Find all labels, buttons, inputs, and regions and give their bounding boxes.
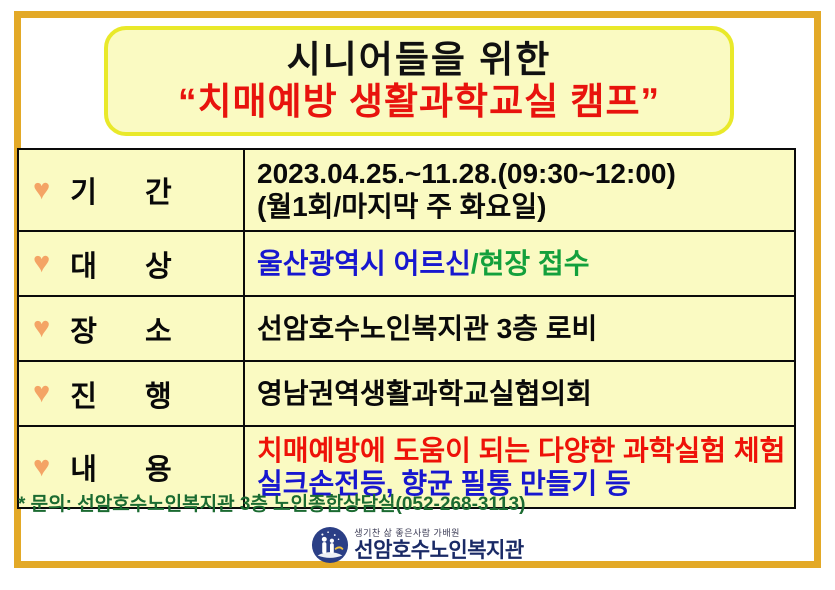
period-value-line-2: (월1회/마지막 주 화요일) xyxy=(257,190,794,223)
title-line-2: “치매예방 생활과학교실 캠프” xyxy=(178,82,660,122)
logo-area: 생기찬 삶 좋은사람 가배원 선암호수노인복지관 xyxy=(0,526,835,564)
heart-icon: ♥ xyxy=(33,176,50,205)
row-label-target: 대 상 xyxy=(64,243,191,285)
row-label-place: 장 소 xyxy=(64,308,191,350)
logo-tagline: 생기찬 삶 좋은사람 가배원 xyxy=(354,529,523,538)
target-value-registration: /현장 접수 xyxy=(471,248,590,279)
row-label-cell-target: ♥ 대 상 xyxy=(18,231,244,296)
table-row: ♥ 기 간 2023.04.25.~11.28.(09:30~12:00) (월… xyxy=(18,149,795,231)
heart-icon: ♥ xyxy=(33,379,50,408)
row-value-cell-period: 2023.04.25.~11.28.(09:30~12:00) (월1회/마지막… xyxy=(244,149,795,231)
row-label-cell-place: ♥ 장 소 xyxy=(18,296,244,361)
table-row: ♥ 진 행 영남권역생활과학교실협의회 xyxy=(18,361,795,426)
row-label-cell-period: ♥ 기 간 xyxy=(18,149,244,231)
logo-text-block: 생기찬 삶 좋은사람 가배원 선암호수노인복지관 xyxy=(354,529,523,561)
target-value-audience: 울산광역시 어르신 xyxy=(257,248,471,279)
info-table: ♥ 기 간 2023.04.25.~11.28.(09:30~12:00) (월… xyxy=(17,148,796,509)
row-label-cell-host: ♥ 진 행 xyxy=(18,361,244,426)
content-value-line-1: 치매예방에 도움이 되는 다양한 과학실험 체험 xyxy=(257,434,794,467)
title-box: 시니어들을 위한 “치매예방 생활과학교실 캠프” xyxy=(104,26,734,136)
place-value: 선암호수노인복지관 3층 로비 xyxy=(257,312,794,345)
title-line-1: 시니어들을 위한 xyxy=(287,40,552,80)
poster-root: 시니어들을 위한 “치매예방 생활과학교실 캠프” ♥ 기 간 2023.04.… xyxy=(0,0,835,590)
row-label-host: 진 행 xyxy=(64,373,191,415)
row-label-period: 기 간 xyxy=(64,169,191,211)
host-value: 영남권역생활과학교실협의회 xyxy=(257,377,794,410)
row-label-content: 내 용 xyxy=(64,446,191,488)
heart-icon: ♥ xyxy=(33,314,50,343)
organization-logo: 생기찬 삶 좋은사람 가배원 선암호수노인복지관 xyxy=(311,526,523,564)
period-value-line-1: 2023.04.25.~11.28.(09:30~12:00) xyxy=(257,157,794,190)
welfare-center-circle-icon xyxy=(311,526,349,564)
table-row: ♥ 장 소 선암호수노인복지관 3층 로비 xyxy=(18,296,795,361)
target-value-line: 울산광역시 어르신/현장 접수 xyxy=(257,247,794,280)
table-row: ♥ 대 상 울산광역시 어르신/현장 접수 xyxy=(18,231,795,296)
heart-icon: ♥ xyxy=(33,249,50,278)
row-value-cell-host: 영남권역생활과학교실협의회 xyxy=(244,361,795,426)
contact-note: * 문의: 선암호수노인복지관 3층 노인종합상담실(052-268-3113) xyxy=(18,489,525,516)
row-value-cell-target: 울산광역시 어르신/현장 접수 xyxy=(244,231,795,296)
row-value-cell-place: 선암호수노인복지관 3층 로비 xyxy=(244,296,795,361)
heart-icon: ♥ xyxy=(33,453,50,482)
logo-organization-name: 선암호수노인복지관 xyxy=(354,540,523,561)
